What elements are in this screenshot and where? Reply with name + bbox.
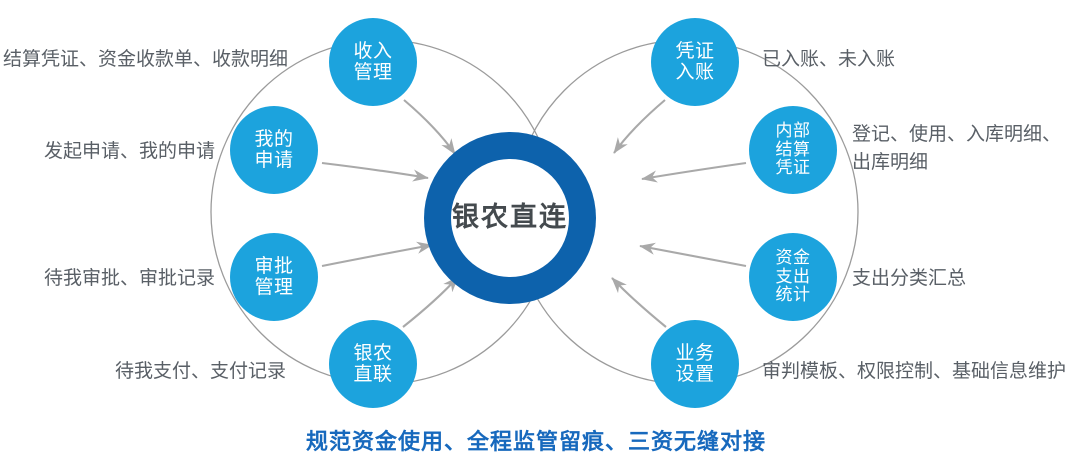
node-income-management[interactable]: 收入 管理 — [329, 18, 417, 106]
node-label-line: 银农 — [353, 343, 392, 364]
node-voucher-entry[interactable]: 凭证 入账 — [651, 18, 739, 106]
arrow-expenditure-statistics — [640, 246, 746, 266]
node-label-line: 结算 — [776, 141, 811, 160]
diagram-caption: 规范资金使用、全程监管留痕、三资无缝对接 — [0, 424, 1072, 456]
node-label-line: 我的 — [254, 129, 293, 150]
arrow-my-application — [322, 163, 428, 178]
node-label-line: 直联 — [353, 364, 392, 385]
arrow-approval-management — [322, 245, 432, 266]
label-income-management-detail: 结算凭证、资金收款单、收款明细 — [3, 46, 288, 74]
node-label-line: 资金 — [776, 249, 811, 268]
node-label-line: 统计 — [776, 286, 811, 305]
node-approval-management[interactable]: 审批 管理 — [230, 233, 318, 321]
node-label-line: 业务 — [675, 343, 714, 364]
node-label-line: 管理 — [353, 62, 392, 83]
node-label-line: 审批 — [254, 256, 293, 277]
arrow-income-management — [404, 100, 455, 154]
infographic-diagram: 银农直连 收入 管理 我的 申请 审批 管理 银农 直联 凭证 入账 内部 结算… — [0, 0, 1072, 471]
arrow-internal-settlement-voucher — [642, 163, 746, 179]
node-internal-settlement-voucher[interactable]: 内部 结算 凭证 — [749, 106, 837, 194]
label-bank-agri-direct-detail: 待我支付、支付记录 — [115, 358, 286, 386]
node-label-line: 管理 — [254, 277, 293, 298]
node-label-line: 支出 — [776, 268, 811, 287]
center-hub-line-1: 银农直连 — [452, 202, 568, 234]
node-label-line: 设置 — [675, 364, 714, 385]
node-label-line: 内部 — [776, 122, 811, 141]
label-internal-settlement-detail: 登记、使用、入库明细、 出库明细 — [852, 121, 1061, 176]
node-business-settings[interactable]: 业务 设置 — [651, 320, 739, 408]
arrow-voucher-entry — [614, 100, 665, 153]
label-voucher-entry-detail: 已入账、未入账 — [762, 46, 895, 74]
node-label-line: 凭证 — [675, 41, 714, 62]
node-label-line: 入账 — [675, 62, 714, 83]
node-my-application[interactable]: 我的 申请 — [230, 106, 318, 194]
center-hub-ring: 银农直连 — [424, 132, 596, 304]
node-expenditure-statistics[interactable]: 资金 支出 统计 — [749, 233, 837, 321]
label-business-settings-detail: 审判模板、权限控制、基础信息维护 — [762, 358, 1066, 386]
center-hub-label: 银农直连 — [451, 159, 569, 277]
node-label-line: 收入 — [353, 41, 392, 62]
node-bank-agri-direct[interactable]: 银农 直联 — [329, 320, 417, 408]
arrow-business-settings — [612, 278, 666, 327]
label-my-application-detail: 发起申请、我的申请 — [44, 138, 215, 166]
node-label-line: 申请 — [254, 150, 293, 171]
node-label-line: 凭证 — [776, 159, 811, 178]
label-approval-management-detail: 待我审批、审批记录 — [44, 265, 215, 293]
arrow-bank-agri-direct — [403, 277, 458, 327]
label-expenditure-statistics-detail: 支出分类汇总 — [852, 265, 966, 293]
